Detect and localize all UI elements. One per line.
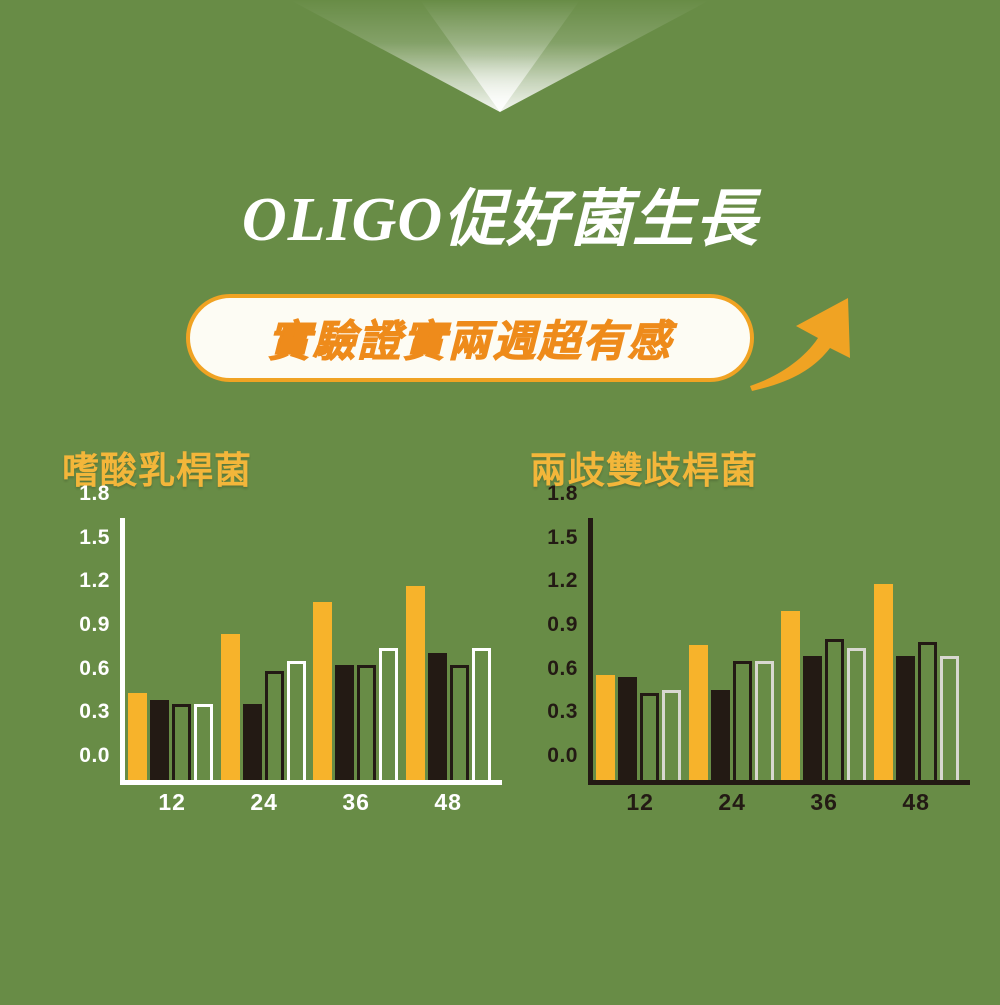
bar-series-1-orange-solid-36 — [313, 602, 332, 780]
x-axis-tick-label: 24 — [250, 789, 278, 816]
bar-series-4-white-outline-hollow-48 — [472, 648, 491, 780]
y-axis-tick-label: 1.8 — [547, 482, 578, 506]
axis-area: 0.00.30.60.91.21.51.8 — [588, 518, 970, 780]
x-axis-tick-label: 36 — [810, 789, 838, 816]
chart-plot-area: 0.00.30.60.91.21.51.8 12243648 — [62, 518, 502, 818]
x-axis-ticks: 12243648 — [588, 782, 970, 818]
y-axis-tick-label: 0.0 — [547, 744, 578, 768]
bar-series-4-white-outline-hollow-36 — [847, 648, 866, 780]
chart-plot-area: 0.00.30.60.91.21.51.8 12243648 — [530, 518, 970, 818]
poster-root: OLIGO促好菌生長 實驗證實兩週超有感 嗜酸乳桿菌 0.00.30.60.91… — [0, 0, 1000, 1005]
x-axis-tick-label: 24 — [718, 789, 746, 816]
bar-series-2-dark-solid-24 — [243, 704, 262, 780]
bar-groups — [596, 518, 966, 780]
bar-series-1-orange-solid-48 — [874, 584, 893, 781]
bar-group — [128, 518, 221, 780]
y-axis-tick-label: 1.5 — [547, 526, 578, 550]
chart-title: 兩歧雙歧桿菌 — [530, 440, 970, 492]
y-axis-tick-label: 0.9 — [547, 613, 578, 637]
bar-group — [406, 518, 499, 780]
x-axis-tick-label: 48 — [902, 789, 930, 816]
x-axis-tick-label: 12 — [626, 789, 654, 816]
bar-series-1-orange-solid-24 — [689, 645, 708, 780]
chart-title: 嗜酸乳桿菌 — [62, 440, 502, 492]
bar-series-4-white-outline-hollow-12 — [194, 704, 213, 780]
bar-series-2-dark-solid-24 — [711, 690, 730, 780]
bar-series-3-dark-outline-hollow-48 — [918, 642, 937, 780]
bar-series-3-dark-outline-hollow-48 — [450, 665, 469, 780]
bar-group — [689, 518, 782, 780]
y-axis-tick-label: 0.9 — [79, 613, 110, 637]
bar-series-4-white-outline-hollow-36 — [379, 648, 398, 780]
page-title: OLIGO促好菌生長 — [0, 188, 1000, 253]
curved-up-right-arrow-icon — [744, 282, 864, 392]
bar-series-2-dark-solid-12 — [618, 677, 637, 780]
bar-series-2-dark-solid-48 — [896, 656, 915, 780]
bar-group — [874, 518, 967, 780]
bar-series-3-dark-outline-hollow-12 — [172, 704, 191, 780]
bar-group — [313, 518, 406, 780]
bar-series-1-orange-solid-36 — [781, 611, 800, 780]
bar-series-2-dark-solid-36 — [803, 656, 822, 780]
y-axis-tick-label: 0.6 — [547, 657, 578, 681]
bar-series-4-white-outline-hollow-24 — [287, 661, 306, 780]
bar-series-3-dark-outline-hollow-24 — [265, 671, 284, 780]
bar-groups — [128, 518, 498, 780]
highlight-badge-label: 實驗證實兩週超有感 — [268, 307, 673, 369]
bar-group — [596, 518, 689, 780]
bar-series-4-white-outline-hollow-24 — [755, 661, 774, 780]
x-axis-ticks: 12243648 — [120, 782, 502, 818]
bar-group — [221, 518, 314, 780]
y-axis-tick-label: 1.5 — [79, 526, 110, 550]
bar-series-3-dark-outline-hollow-36 — [825, 639, 844, 780]
bar-series-1-orange-solid-12 — [128, 693, 147, 780]
bar-series-3-dark-outline-hollow-24 — [733, 661, 752, 780]
y-axis-tick-label: 0.6 — [79, 657, 110, 681]
x-axis-tick-label: 12 — [158, 789, 186, 816]
y-axis-tick-label: 1.8 — [79, 482, 110, 506]
x-axis-tick-label: 48 — [434, 789, 462, 816]
bar-series-3-dark-outline-hollow-36 — [357, 665, 376, 780]
y-axis-tick-label: 0.3 — [547, 700, 578, 724]
y-axis-tick-label: 0.3 — [79, 700, 110, 724]
y-axis-tick-label: 1.2 — [79, 569, 110, 593]
bar-series-3-dark-outline-hollow-12 — [640, 693, 659, 780]
bar-group — [781, 518, 874, 780]
bar-series-1-orange-solid-12 — [596, 675, 615, 780]
bar-series-1-orange-solid-24 — [221, 634, 240, 780]
bar-series-2-dark-solid-36 — [335, 665, 354, 780]
chart-panel-bifidobacterium: 兩歧雙歧桿菌 0.00.30.60.91.21.51.8 12243648 — [530, 440, 970, 818]
bar-series-4-white-outline-hollow-48 — [940, 656, 959, 780]
bar-series-4-white-outline-hollow-12 — [662, 690, 681, 780]
y-axis-line — [120, 518, 125, 780]
light-beam-decoration — [0, 0, 1000, 112]
y-axis-line — [588, 518, 593, 780]
highlight-badge: 實驗證實兩週超有感 — [186, 294, 754, 382]
x-axis-tick-label: 36 — [342, 789, 370, 816]
bar-series-2-dark-solid-48 — [428, 653, 447, 780]
bar-series-2-dark-solid-12 — [150, 700, 169, 780]
axis-area: 0.00.30.60.91.21.51.8 — [120, 518, 502, 780]
y-axis-tick-label: 1.2 — [547, 569, 578, 593]
chart-panel-acidophilus: 嗜酸乳桿菌 0.00.30.60.91.21.51.8 12243648 — [62, 440, 502, 818]
bar-series-1-orange-solid-48 — [406, 586, 425, 780]
y-axis-tick-label: 0.0 — [79, 744, 110, 768]
